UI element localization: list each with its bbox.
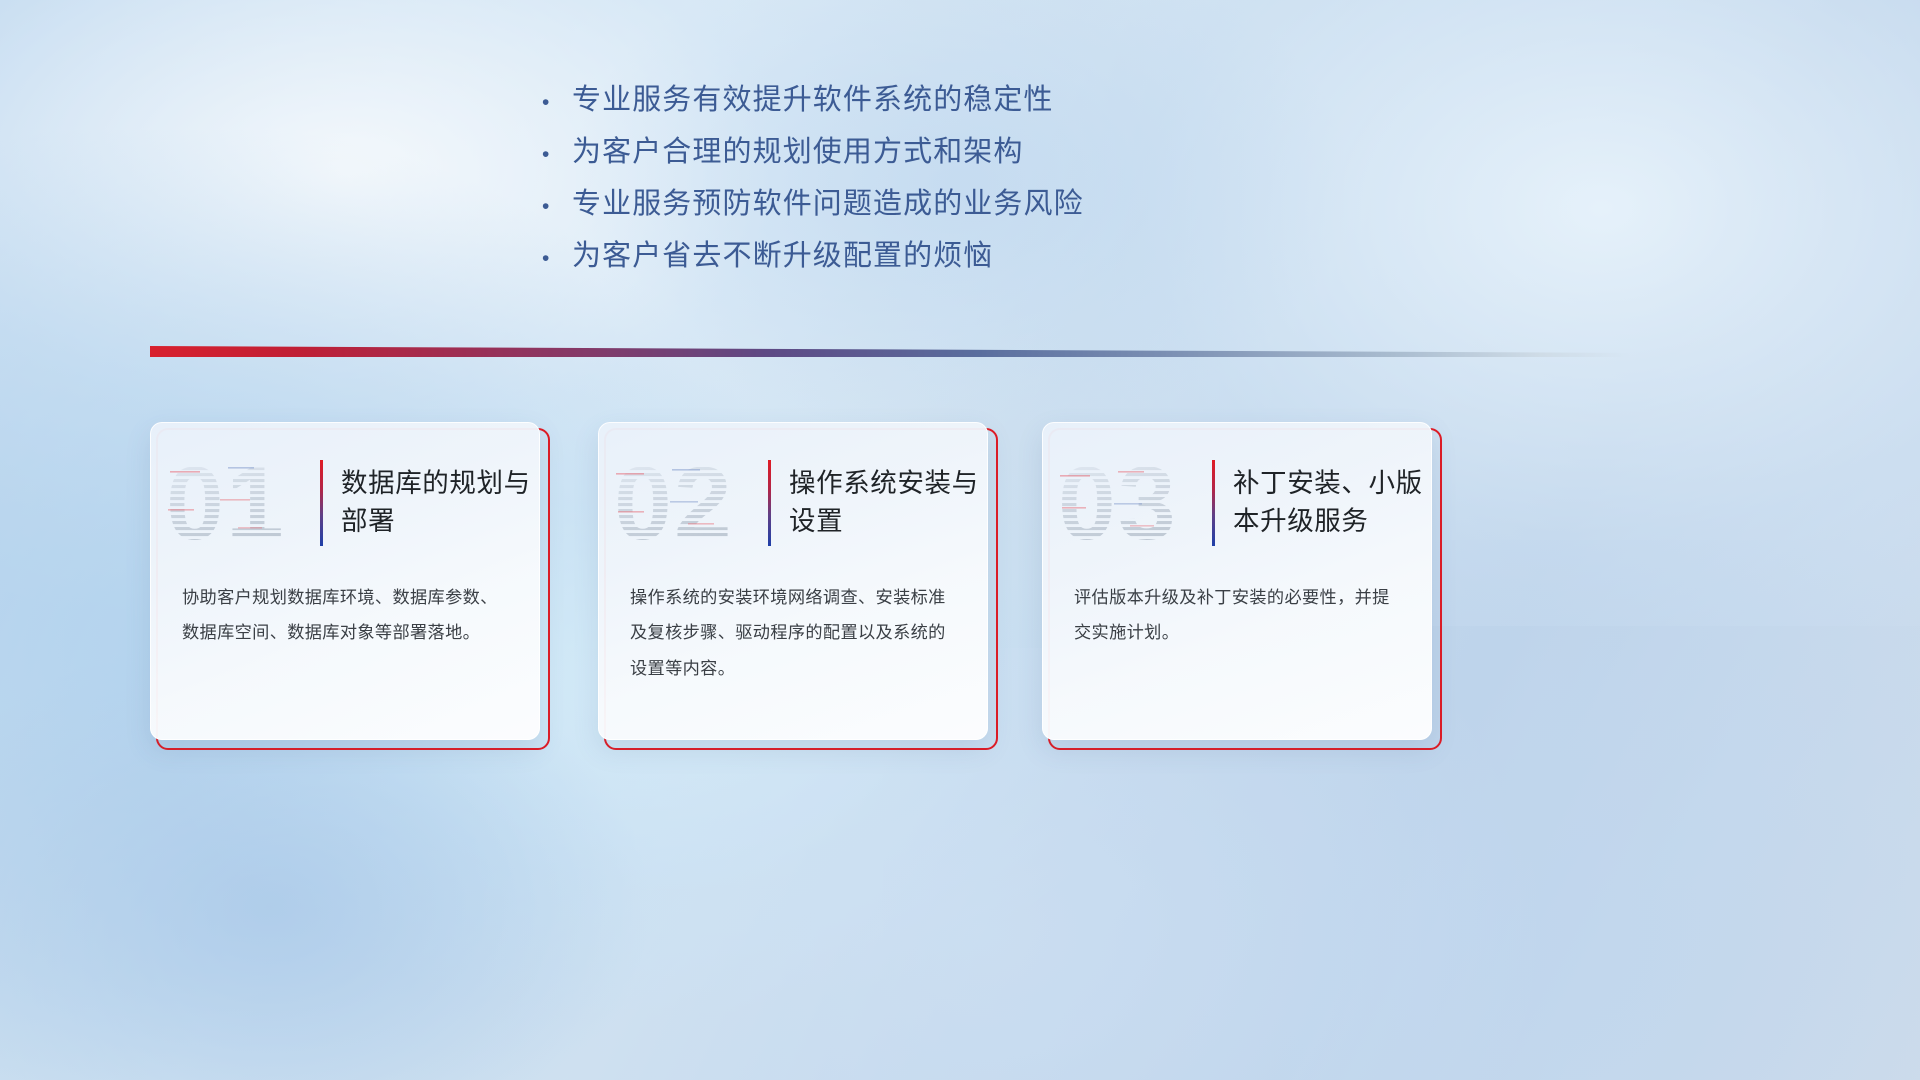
card-accent-bar — [768, 460, 771, 546]
bullet-item: • 为客户合理的规划使用方式和架构 — [536, 138, 1356, 190]
service-card[interactable]: 03 补丁安装、小版本升级服务 评估版本升级及补丁安装的必要性，并提交实施计划。 — [1042, 422, 1432, 740]
section-divider — [150, 346, 1630, 357]
card-number-watermark: 03 — [1056, 449, 1208, 557]
card-number-watermark: 01 — [164, 449, 316, 557]
bullet-item: • 专业服务预防软件问题造成的业务风险 — [536, 190, 1356, 242]
card-description: 协助客户规划数据库环境、数据库参数、数据库空间、数据库对象等部署落地。 — [182, 580, 512, 651]
bullet-label: 专业服务有效提升软件系统的稳定性 — [572, 86, 1054, 115]
bullet-item: • 为客户省去不断升级配置的烦恼 — [536, 242, 1356, 294]
card-title: 补丁安装、小版本升级服务 — [1233, 465, 1432, 540]
card-surface: 03 补丁安装、小版本升级服务 评估版本升级及补丁安装的必要性，并提交实施计划。 — [1042, 422, 1432, 740]
bullet-item: • 专业服务有效提升软件系统的稳定性 — [536, 86, 1356, 138]
card-accent-bar — [1212, 460, 1215, 546]
bullet-marker-icon: • — [536, 248, 572, 269]
card-title: 操作系统安装与设置 — [789, 465, 988, 540]
bullet-marker-icon: • — [536, 196, 572, 217]
divider-gradient-bar — [150, 346, 1630, 357]
card-header: 03 补丁安装、小版本升级服务 — [1042, 444, 1432, 562]
service-card[interactable]: 02 操作系统安装与设置 操作系统的安装环境网络调查、安装标准及复核步骤、驱动程… — [598, 422, 988, 740]
card-header: 01 数据库的规划与部署 — [150, 444, 540, 562]
bullet-marker-icon: • — [536, 144, 572, 165]
card-header: 02 操作系统安装与设置 — [598, 444, 988, 562]
service-card[interactable]: 01 数据库的规划与部署 协助客户规划数据库环境、数据库参数、数据库空间、数据库… — [150, 422, 540, 740]
card-description: 评估版本升级及补丁安装的必要性，并提交实施计划。 — [1074, 580, 1404, 651]
benefits-bullet-list: • 专业服务有效提升软件系统的稳定性 • 为客户合理的规划使用方式和架构 • 专… — [536, 86, 1356, 294]
card-title: 数据库的规划与部署 — [341, 465, 540, 540]
card-accent-bar — [320, 460, 323, 546]
card-description: 操作系统的安装环境网络调查、安装标准及复核步骤、驱动程序的配置以及系统的设置等内… — [630, 580, 960, 686]
card-number-watermark: 02 — [612, 449, 764, 557]
bullet-label: 为客户合理的规划使用方式和架构 — [572, 138, 1024, 167]
card-surface: 02 操作系统安装与设置 操作系统的安装环境网络调查、安装标准及复核步骤、驱动程… — [598, 422, 988, 740]
svg-text:01: 01 — [166, 449, 286, 557]
slide-canvas: • 专业服务有效提升软件系统的稳定性 • 为客户合理的规划使用方式和架构 • 专… — [0, 0, 1920, 1080]
bullet-label: 专业服务预防软件问题造成的业务风险 — [572, 190, 1084, 219]
svg-text:02: 02 — [614, 449, 734, 557]
card-surface: 01 数据库的规划与部署 协助客户规划数据库环境、数据库参数、数据库空间、数据库… — [150, 422, 540, 740]
bullet-label: 为客户省去不断升级配置的烦恼 — [572, 242, 993, 271]
bullet-marker-icon: • — [536, 92, 572, 113]
